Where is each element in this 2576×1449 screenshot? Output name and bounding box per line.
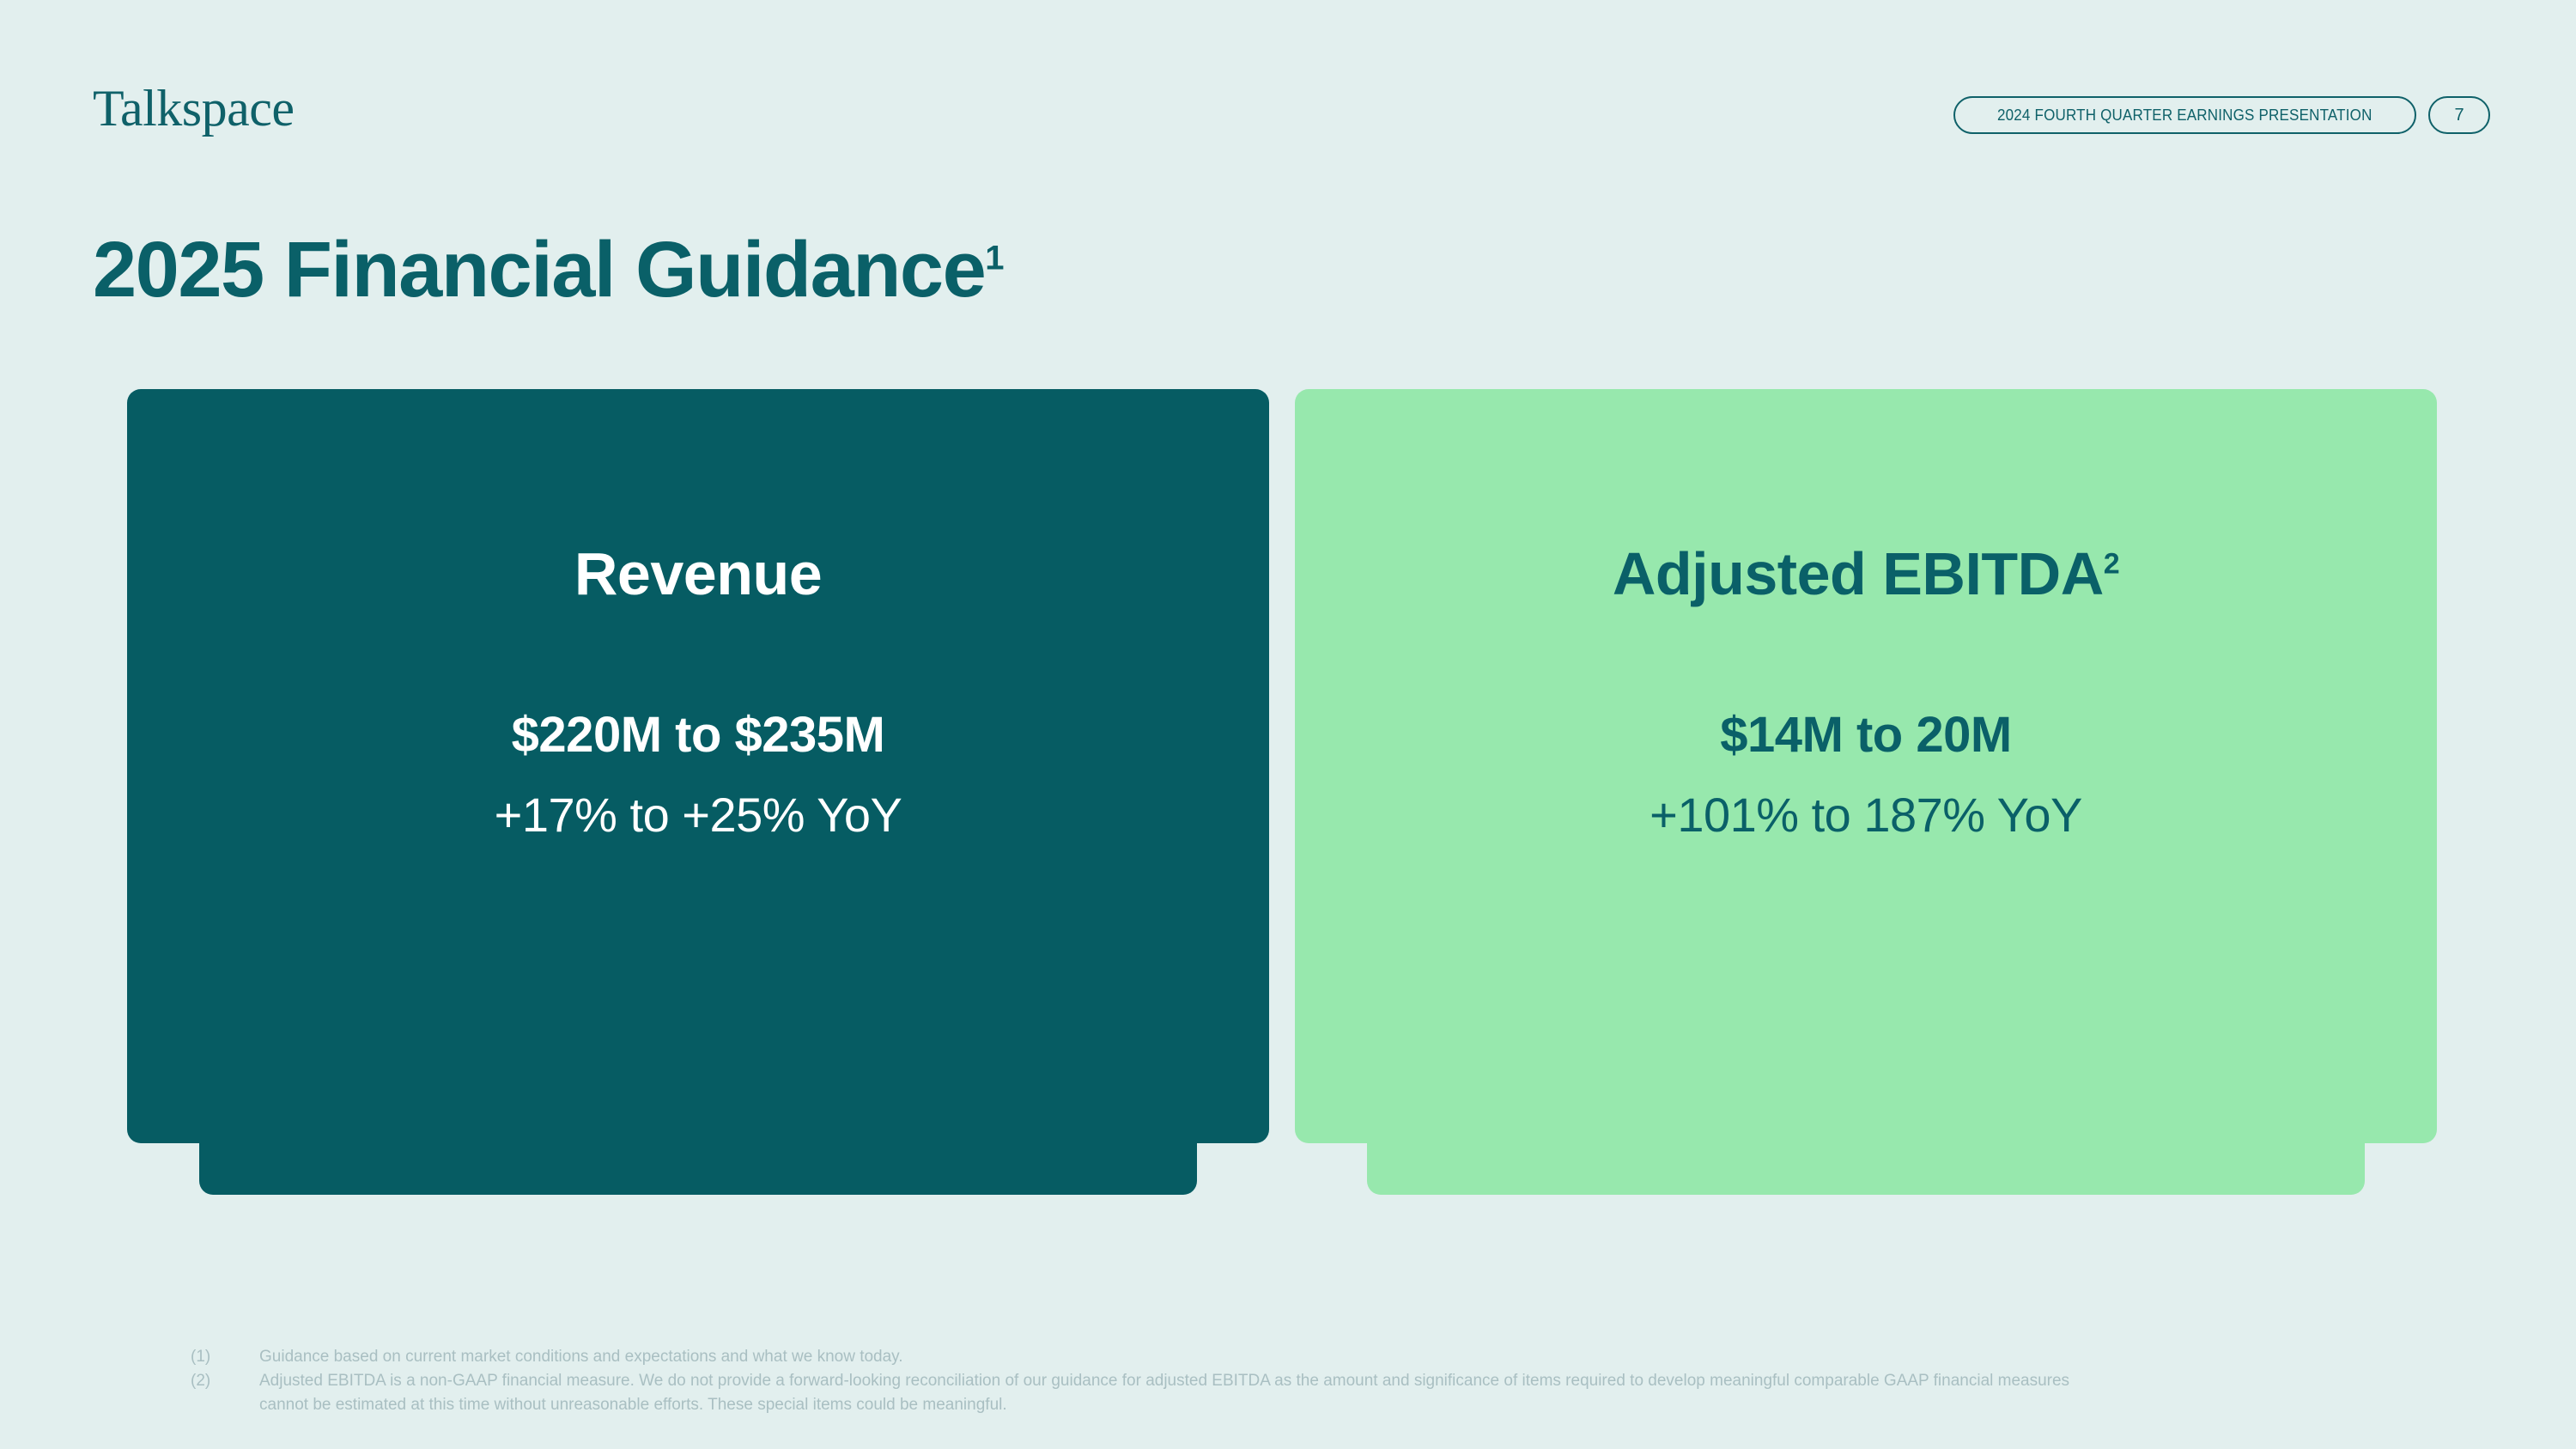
page-title-text: 2025 Financial Guidance (93, 226, 985, 314)
footnote-text: Adjusted EBITDA is a non-GAAP financial … (259, 1369, 2123, 1417)
footnote-item: (1) Guidance based on current market con… (191, 1345, 2123, 1369)
footnote-marker: (2) (191, 1369, 259, 1393)
page-title: 2025 Financial Guidance1 (93, 227, 1005, 314)
page-number-label: 7 (2454, 106, 2464, 125)
card-heading: Revenue (574, 544, 822, 604)
slide-root: Talkspace 2024 FOURTH QUARTER EARNINGS P… (0, 0, 2576, 1449)
card-value: $220M to $235M (512, 710, 885, 760)
card-body: Adjusted EBITDA2 $14M to 20M +101% to 18… (1295, 389, 2437, 1143)
card-value: $14M to 20M (1720, 710, 2011, 760)
card-heading: Adjusted EBITDA2 (1613, 544, 2119, 604)
talkspace-logo: Talkspace (93, 82, 295, 134)
footnote-text: Guidance based on current market conditi… (259, 1345, 903, 1369)
deck-title-badge: 2024 FOURTH QUARTER EARNINGS PRESENTATIO… (1953, 96, 2416, 134)
card-heading-footnote-ref: 2 (2104, 548, 2119, 581)
card-heading-text: Adjusted EBITDA (1613, 540, 2104, 607)
deck-title-label: 2024 FOURTH QUARTER EARNINGS PRESENTATIO… (1997, 106, 2372, 125)
page-number-badge: 7 (2428, 96, 2490, 134)
card-subvalue: +17% to +25% YoY (495, 791, 902, 839)
footnote-marker: (1) (191, 1345, 259, 1369)
card-body: Revenue $220M to $235M +17% to +25% YoY (127, 389, 1269, 1143)
card-subvalue: +101% to 187% YoY (1649, 791, 2082, 839)
card-heading-text: Revenue (574, 540, 822, 607)
footnotes: (1) Guidance based on current market con… (191, 1345, 2123, 1417)
footnote-item: (2) Adjusted EBITDA is a non-GAAP financ… (191, 1369, 2123, 1417)
header-meta-group: 2024 FOURTH QUARTER EARNINGS PRESENTATIO… (1953, 96, 2490, 134)
page-title-footnote-ref: 1 (985, 239, 1004, 277)
